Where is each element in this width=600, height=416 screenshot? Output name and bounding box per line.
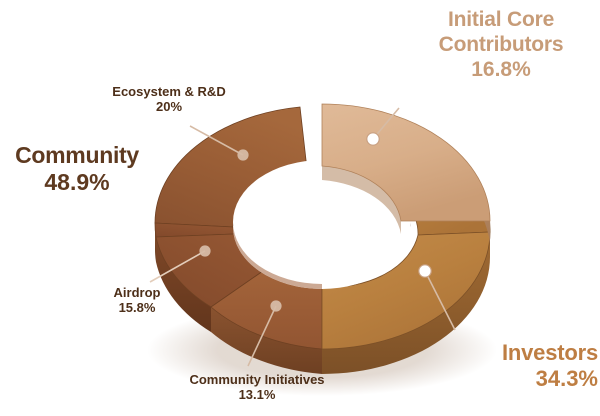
callout-dot-ecosystem bbox=[237, 149, 248, 160]
label-initial-core-name-line2: Contributors bbox=[408, 33, 594, 58]
callout-dot-investors bbox=[419, 265, 431, 277]
label-community-name: Community bbox=[2, 142, 152, 169]
callout-dot-initial-core bbox=[367, 133, 379, 145]
callout-dot-community-initiatives bbox=[270, 300, 281, 311]
chart-canvas: Community 48.9% Initial Core Contributor… bbox=[0, 0, 600, 416]
label-airdrop-percent: 15.8% bbox=[82, 300, 192, 315]
label-ecosystem-rd: Ecosystem & R&D 20% bbox=[99, 84, 239, 115]
label-initial-core-contributors: Initial Core Contributors 16.8% bbox=[408, 8, 594, 82]
callout-dot-airdrop bbox=[199, 245, 210, 256]
label-ecosystem-percent: 20% bbox=[99, 99, 239, 114]
label-ecosystem-name: Ecosystem & R&D bbox=[99, 84, 239, 99]
label-community-initiatives-name: Community Initiatives bbox=[169, 372, 345, 387]
label-investors: Investors 34.3% bbox=[456, 340, 598, 392]
label-community-initiatives: Community Initiatives 13.1% bbox=[169, 372, 345, 403]
label-community: Community 48.9% bbox=[2, 142, 152, 196]
label-investors-name: Investors bbox=[456, 340, 598, 366]
label-initial-core-name-line1: Initial Core bbox=[408, 8, 594, 33]
label-community-initiatives-percent: 13.1% bbox=[169, 387, 345, 402]
label-investors-percent: 34.3% bbox=[456, 366, 598, 392]
label-airdrop-name: Airdrop bbox=[82, 285, 192, 300]
label-initial-core-percent: 16.8% bbox=[408, 58, 594, 83]
label-community-percent: 48.9% bbox=[2, 169, 152, 196]
label-airdrop: Airdrop 15.8% bbox=[82, 285, 192, 316]
